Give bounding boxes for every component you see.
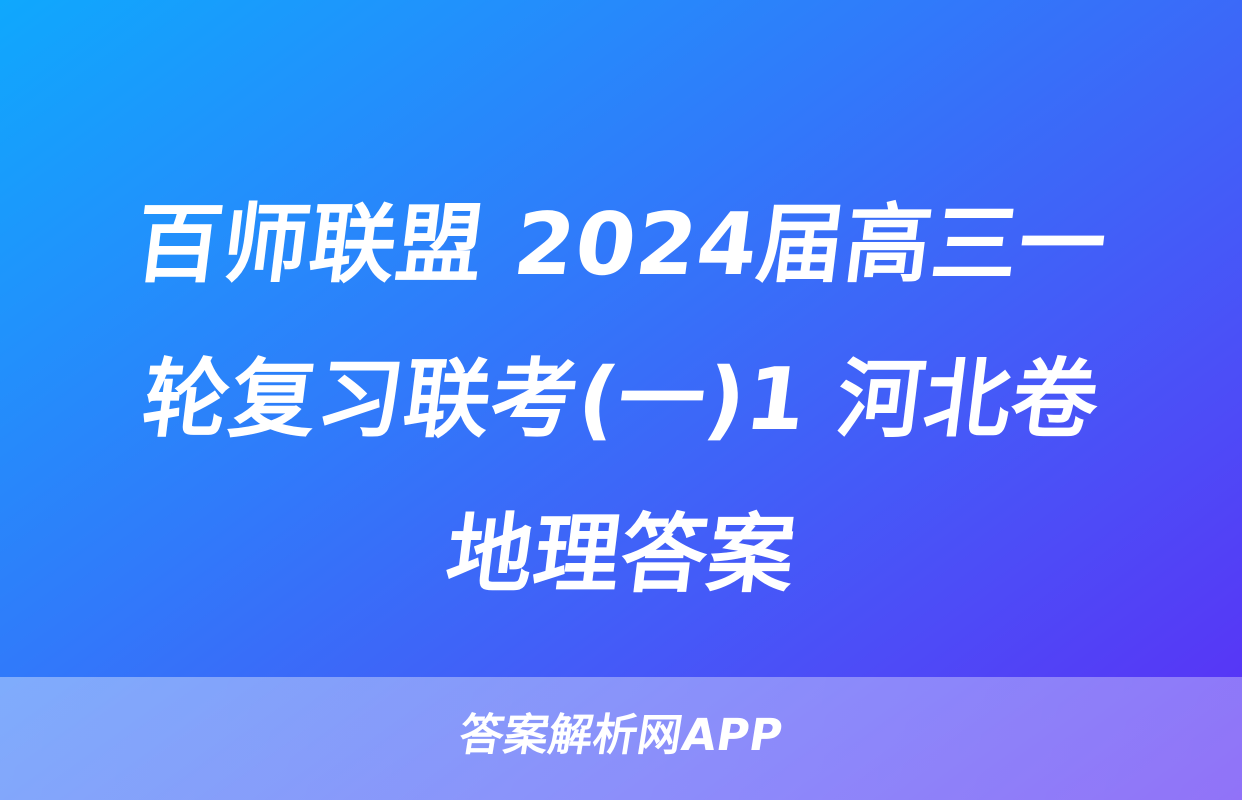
- title-line-2: 轮复习联考(一)1 河北卷: [30, 323, 1211, 478]
- watermark-text: 答案解析网APP: [0, 710, 1242, 762]
- banner-canvas: 百师联盟 2024届高三一 轮复习联考(一)1 河北卷 地理答案 答案解析网AP…: [0, 0, 1242, 800]
- title-line-3: 地理答案: [30, 478, 1211, 633]
- title-line-1: 百师联盟 2024届高三一: [30, 168, 1211, 323]
- title-block: 百师联盟 2024届高三一 轮复习联考(一)1 河北卷 地理答案: [0, 168, 1242, 638]
